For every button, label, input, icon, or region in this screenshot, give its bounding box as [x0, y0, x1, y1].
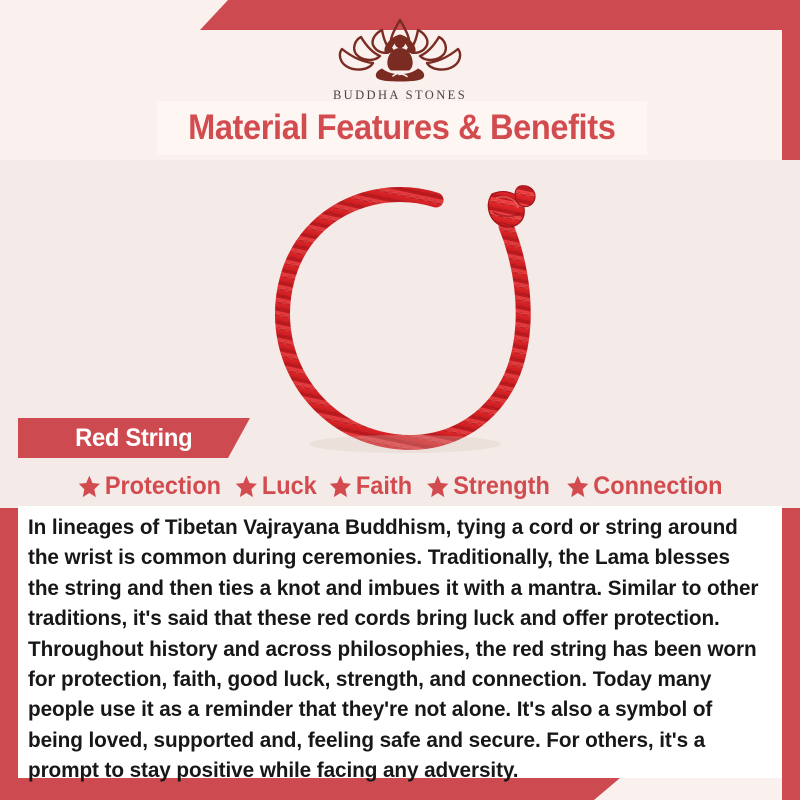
star-icon: [566, 474, 590, 499]
benefit-keyword-label: Strength: [453, 472, 550, 501]
star-icon: [329, 474, 353, 499]
benefit-keyword: Faith: [329, 472, 412, 501]
benefit-keyword: Protection: [77, 472, 220, 501]
header: BUDDHA STONES Material Features & Benefi…: [0, 0, 800, 160]
star-icon: [235, 474, 259, 499]
page-title: Material Features & Benefits: [188, 108, 615, 148]
infographic-page: BUDDHA STONES Material Features & Benefi…: [0, 0, 800, 800]
page-title-band: Material Features & Benefits: [157, 101, 647, 155]
product-name-label: Red String: [75, 424, 192, 453]
benefit-keyword: Connection: [566, 472, 723, 501]
red-string-bracelet-image: [230, 168, 590, 468]
benefit-keyword-label: Connection: [593, 472, 722, 501]
benefit-keyword: Strength: [426, 472, 550, 501]
benefit-keyword-label: Faith: [356, 472, 412, 501]
benefit-keywords-row: Protection Luck Faith Strength Connectio…: [18, 466, 782, 506]
benefit-keyword-label: Protection: [104, 472, 220, 501]
benefit-keyword: Luck: [235, 472, 317, 501]
star-icon: [77, 474, 101, 499]
description-panel: In lineages of Tibetan Vajrayana Buddhis…: [18, 506, 782, 778]
product-name-banner: Red String: [18, 418, 250, 458]
benefit-keyword-label: Luck: [262, 472, 317, 501]
lotus-meditation-icon: [325, 14, 475, 86]
star-icon: [426, 474, 450, 499]
brand-logo: BUDDHA STONES: [0, 14, 800, 103]
description-text: In lineages of Tibetan Vajrayana Buddhis…: [28, 512, 766, 786]
